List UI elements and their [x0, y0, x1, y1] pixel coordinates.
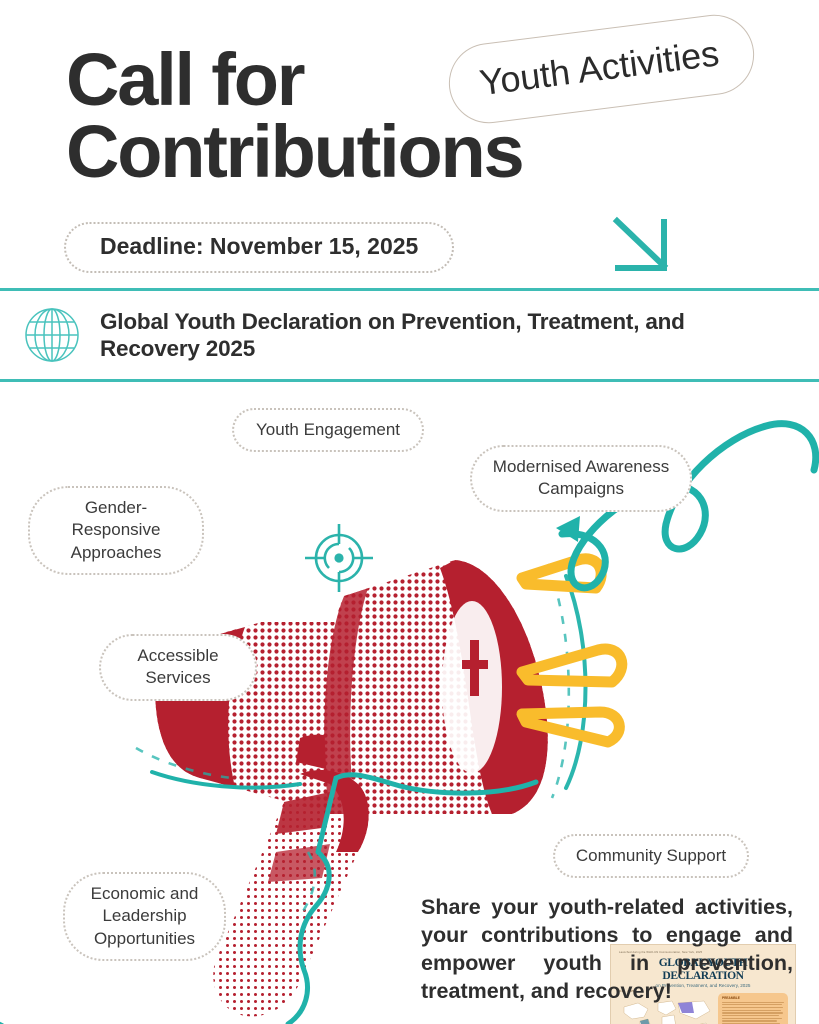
globe-icon: [24, 306, 80, 364]
pill-economic-leadership: Economic and Leadership Opportunities: [63, 872, 226, 961]
pill-youth-engagement: Youth Engagement: [232, 408, 424, 452]
badge-deadline-label: Deadline: November 15, 2025: [100, 233, 418, 259]
band-title: Global Youth Declaration on Prevention, …: [100, 308, 790, 363]
artwork-canvas: Launched during the WHO-UN Commemoration…: [0, 382, 819, 1024]
pill-accessible-services: Accessible Services: [99, 634, 257, 701]
title-band: Global Youth Declaration on Prevention, …: [0, 288, 819, 382]
call-to-action-text: Share your youth-related activities, you…: [421, 894, 793, 1006]
pill-modernised-awareness: Modernised Awareness Campaigns: [470, 445, 692, 512]
pill-gender-responsive: Gender-Responsive Approaches: [28, 486, 204, 575]
headline-line-2: Contributions: [66, 116, 706, 188]
badge-deadline: Deadline: November 15, 2025: [64, 222, 454, 273]
arrow-down-right-icon: [612, 216, 676, 276]
header: Call for Contributions Youth Activities …: [0, 0, 819, 288]
badge-youth-activities-label: Youth Activities: [477, 32, 721, 103]
target-crosshair-icon: [303, 522, 375, 594]
pill-community-support: Community Support: [553, 834, 749, 878]
scribble-arrow-head: [556, 516, 580, 542]
